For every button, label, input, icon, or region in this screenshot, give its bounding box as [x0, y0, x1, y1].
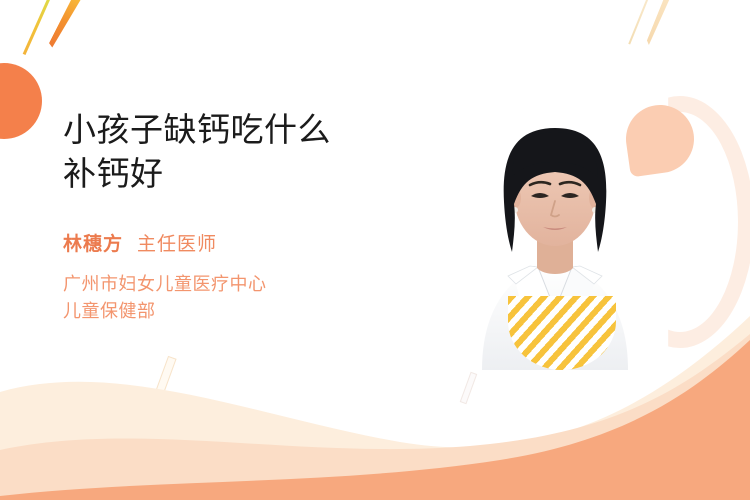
diagonal-stripe-top-left-thin — [23, 0, 55, 55]
diagonal-stripe-top-right-thick — [646, 0, 674, 46]
doctor-info-card: 小孩子缺钙吃什么 补钙好 林穗方主任医师 广州市妇女儿童医疗中心 儿童保健部 — [0, 0, 750, 500]
page-title: 小孩子缺钙吃什么 补钙好 — [63, 108, 423, 196]
text-block: 小孩子缺钙吃什么 补钙好 林穗方主任医师 广州市妇女儿童医疗中心 儿童保健部 — [63, 108, 423, 325]
doctor-affiliation: 广州市妇女儿童医疗中心 儿童保健部 — [63, 271, 423, 325]
faint-diagonal-stripe-center — [460, 372, 478, 404]
doctor-title: 主任医师 — [137, 234, 217, 255]
doctor-byline: 林穗方主任医师 — [63, 234, 423, 257]
diagonal-stripe-top-right-thin — [628, 0, 652, 45]
diagonal-stripe-top-left-thick — [48, 0, 84, 49]
striped-circle-decoration — [508, 296, 616, 370]
doctor-name: 林穗方 — [63, 234, 123, 255]
faint-diagonal-stripe-left — [152, 356, 176, 402]
orange-circle-decoration — [0, 63, 42, 139]
